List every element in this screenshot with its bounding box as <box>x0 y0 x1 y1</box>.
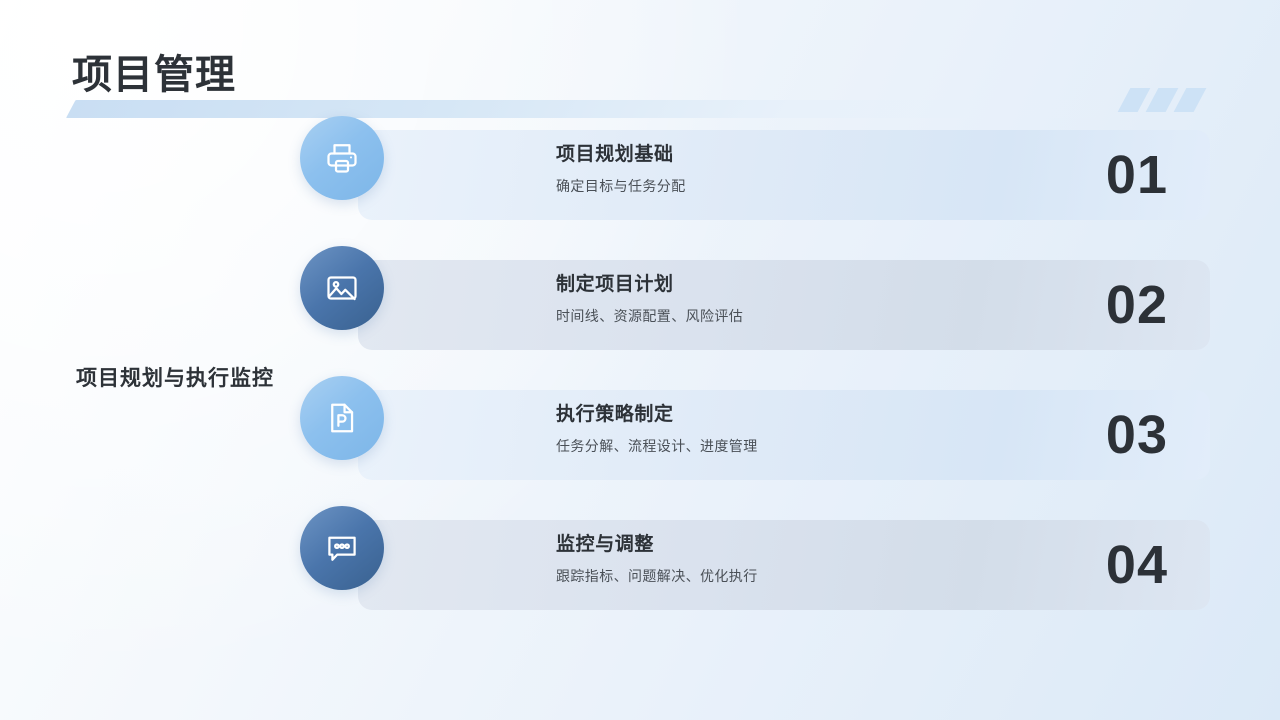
step-title: 监控与调整 <box>556 533 1116 557</box>
step-number: 02 <box>1106 278 1168 332</box>
step-number: 03 <box>1106 408 1168 462</box>
slash-icon <box>1118 88 1151 112</box>
step-number: 01 <box>1106 148 1168 202</box>
step-icon-badge <box>300 506 384 590</box>
decorative-slash-group <box>1124 88 1216 112</box>
step-subtitle: 跟踪指标、问题解决、优化执行 <box>556 567 1116 585</box>
step-text-block: 执行策略制定 任务分解、流程设计、进度管理 <box>556 403 1116 455</box>
list-item-step-1[interactable]: 项目规划基础 确定目标与任务分配 01 <box>358 130 1210 220</box>
image-icon <box>324 270 360 306</box>
step-text-block: 项目规划基础 确定目标与任务分配 <box>556 143 1116 195</box>
list-item-step-4[interactable]: 监控与调整 跟踪指标、问题解决、优化执行 04 <box>358 520 1210 610</box>
slash-icon <box>1174 88 1207 112</box>
step-number: 04 <box>1106 538 1168 592</box>
step-text-block: 制定项目计划 时间线、资源配置、风险评估 <box>556 273 1116 325</box>
step-text-block: 监控与调整 跟踪指标、问题解决、优化执行 <box>556 533 1116 585</box>
chat-bubble-dots-icon <box>324 530 360 566</box>
step-subtitle: 时间线、资源配置、风险评估 <box>556 307 1116 325</box>
printer-icon <box>324 140 360 176</box>
slash-icon <box>1146 88 1179 112</box>
presentation-file-icon <box>324 400 360 436</box>
list-item-step-2[interactable]: 制定项目计划 时间线、资源配置、风险评估 02 <box>358 260 1210 350</box>
step-title: 执行策略制定 <box>556 403 1116 427</box>
step-subtitle: 确定目标与任务分配 <box>556 177 1116 195</box>
page-title: 项目管理 <box>72 52 236 98</box>
title-underline-bar <box>66 100 1136 118</box>
section-caption: 项目规划与执行监控 <box>76 362 336 392</box>
step-title: 项目规划基础 <box>556 143 1116 167</box>
step-icon-badge <box>300 116 384 200</box>
step-icon-badge <box>300 376 384 460</box>
step-icon-badge <box>300 246 384 330</box>
step-title: 制定项目计划 <box>556 273 1116 297</box>
slide-canvas: 项目管理 项目规划与执行监控 项目规划基础 确定目标与 <box>0 0 1280 720</box>
step-subtitle: 任务分解、流程设计、进度管理 <box>556 437 1116 455</box>
list-item-step-3[interactable]: 执行策略制定 任务分解、流程设计、进度管理 03 <box>358 390 1210 480</box>
steps-list: 项目规划基础 确定目标与任务分配 01 制定项目计划 时间线、资源配置、风险评估 <box>358 130 1210 610</box>
